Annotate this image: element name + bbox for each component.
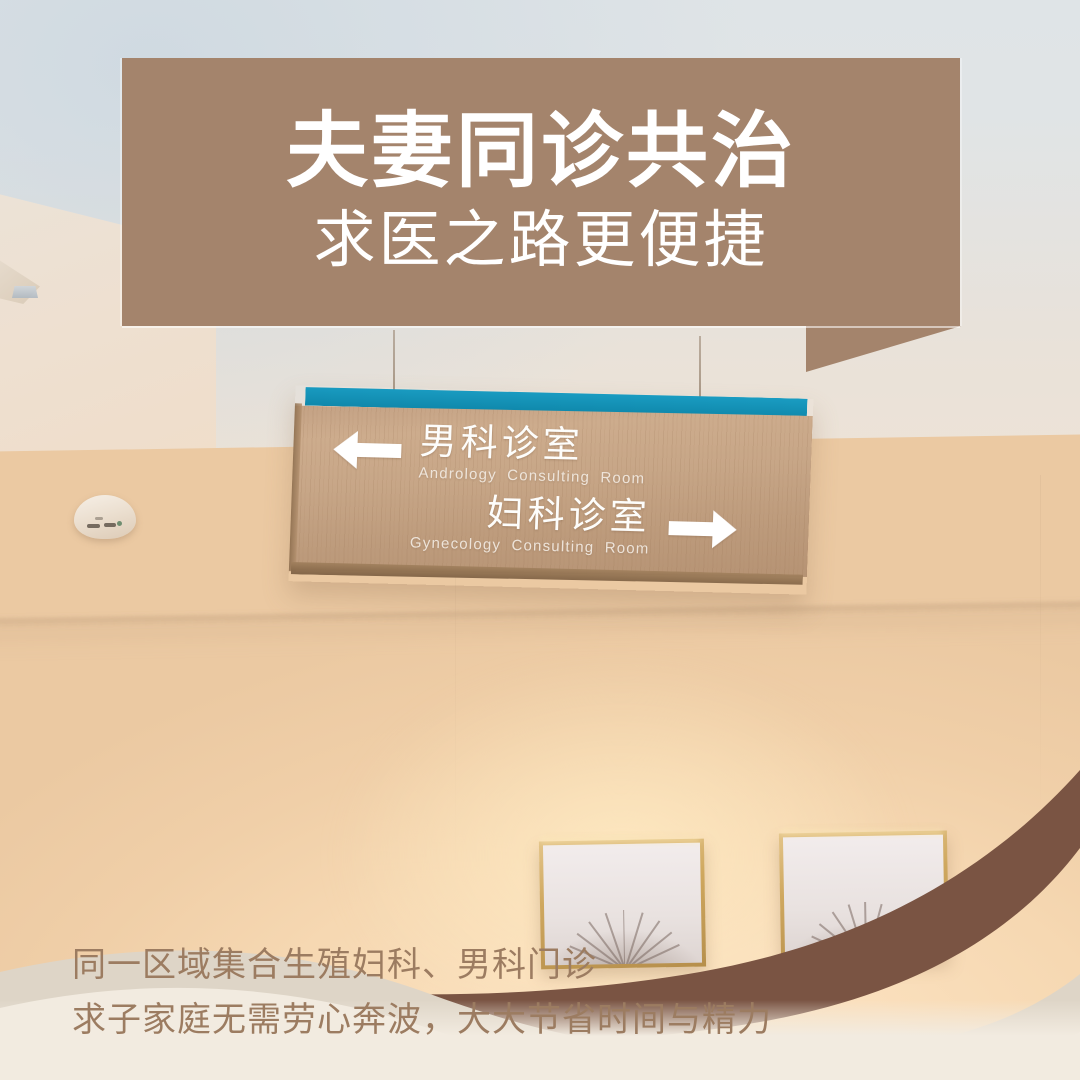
headline-secondary: 求医之路更便捷 [313,205,768,276]
caption-block: 同一区域集合生殖妇科、男科门诊 求子家庭无需劳心奔波，大大节省时间与精力 [72,938,972,1048]
sign-label-group-andrology: 男科诊室 Andrology Consulting Room [418,423,647,488]
artwork-top-light [780,830,943,836]
caption-line-2: 求子家庭无需劳心奔波，大大节省时间与精力 [72,993,972,1048]
poster-canvas: 男科诊室 Andrology Consulting Room 妇科诊室 Gyne… [0,0,1080,1080]
corner-light-cap [12,286,38,298]
wall-seam [1040,475,1041,842]
speech-bubble: 夫妻同诊共治 求医之路更便捷 [122,58,960,326]
smoke-detector-vent [95,517,103,520]
smoke-detector-body [74,495,136,539]
headline-primary: 夫妻同诊共治 [286,108,796,197]
smoke-detector-vent [104,523,116,527]
arrow-left-icon [330,427,404,475]
headline-block: 夫妻同诊共治 求医之路更便捷 [122,58,960,326]
sign-row-gynecology: 妇科诊室 Gynecology Consulting Room [410,492,812,561]
directional-sign: 男科诊室 Andrology Consulting Room 妇科诊室 Gyne… [288,385,813,594]
sign-cn-andrology: 男科诊室 [419,423,647,468]
smoke-detector-led [117,521,122,526]
artwork-top-light [540,838,700,844]
caption-line-1: 同一区域集合生殖妇科、男科门诊 [72,938,972,993]
sign-label-group-gynecology: 妇科诊室 Gynecology Consulting Room [410,492,652,557]
arrow-right-icon [665,505,739,553]
sign-hanging-rod [699,336,701,402]
sign-row-andrology: 男科诊室 Andrology Consulting Room [330,420,752,490]
smoke-detector-icon [74,495,136,539]
sign-cn-gynecology: 妇科诊室 [486,494,651,537]
smoke-detector-vent [87,524,100,528]
